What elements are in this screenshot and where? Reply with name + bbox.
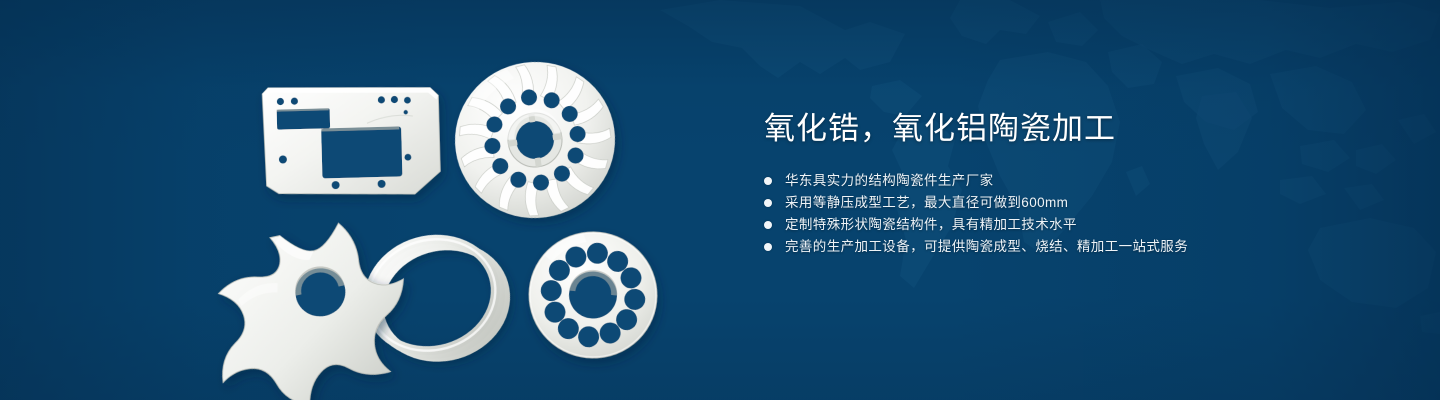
feature-list: 华东具实力的结构陶瓷件生产厂家 采用等静压成型工艺，最大直径可做到600mm 定…	[764, 170, 1384, 258]
list-item: 完善的生产加工设备，可提供陶瓷成型、烧结、精加工一站式服务	[764, 236, 1384, 258]
ceramic-perforated-annular-disc	[523, 226, 663, 365]
page-title: 氧化锆，氧化铝陶瓷加工	[764, 108, 1384, 150]
promo-banner: 氧化锆，氧化铝陶瓷加工 华东具实力的结构陶瓷件生产厂家 采用等静压成型工艺，最大…	[0, 0, 1440, 400]
ceramic-impeller-rotor-disc	[445, 52, 625, 229]
bullet-dot-icon	[764, 221, 772, 229]
banner-copy-block: 氧化锆，氧化铝陶瓷加工 华东具实力的结构陶瓷件生产厂家 采用等静压成型工艺，最大…	[764, 108, 1384, 258]
bullet-dot-icon	[764, 199, 772, 207]
list-item-label: 定制特殊形状陶瓷结构件，具有精加工技术水平	[785, 214, 1077, 236]
list-item-label: 华东具实力的结构陶瓷件生产厂家	[785, 170, 994, 192]
list-item: 定制特殊形状陶瓷结构件，具有精加工技术水平	[764, 214, 1384, 236]
bullet-dot-icon	[764, 243, 772, 251]
ceramic-cross-shaped-plate	[196, 212, 425, 400]
list-item: 采用等静压成型工艺，最大直径可做到600mm	[764, 192, 1384, 214]
list-item-label: 完善的生产加工设备，可提供陶瓷成型、烧结、精加工一站式服务	[785, 236, 1188, 258]
list-item: 华东具实力的结构陶瓷件生产厂家	[764, 170, 1384, 192]
ceramic-plate-with-cutouts	[262, 83, 441, 198]
list-item-label: 采用等静压成型工艺，最大直径可做到600mm	[785, 192, 1068, 214]
bullet-dot-icon	[764, 177, 772, 185]
ceramic-products-illustration	[0, 0, 720, 400]
